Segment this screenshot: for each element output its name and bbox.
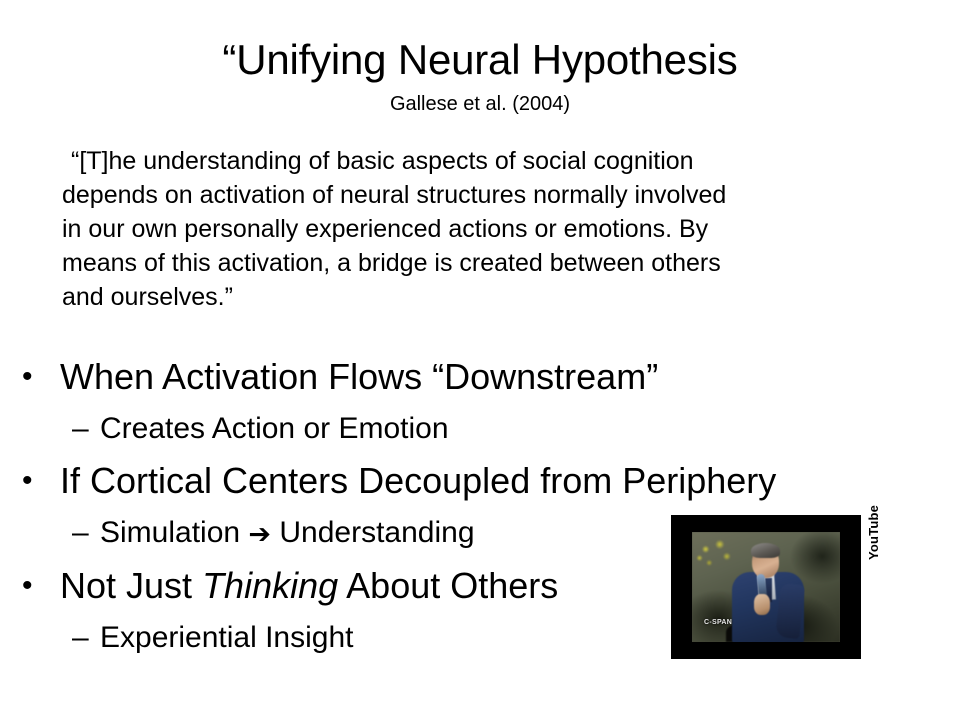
bullet-item-2: • If Cortical Centers Decoupled from Per… xyxy=(22,454,952,508)
sub-bullet-item-3-label: Experiential Insight xyxy=(100,613,353,663)
page-title: “Unifying Neural Hypothesis xyxy=(0,36,960,84)
en-dash-icon: – xyxy=(72,404,100,454)
quote-line-3: in our own personally experienced action… xyxy=(62,212,924,246)
video-thumbnail[interactable]: C-SPAN xyxy=(692,532,840,642)
en-dash-icon: – xyxy=(72,508,100,558)
sub-bullet-item-2-label: Simulation ➔ Understanding xyxy=(100,508,475,559)
embedded-video-player[interactable]: C-SPAN xyxy=(671,515,861,659)
foliage-decoration xyxy=(696,538,740,578)
right-arrow-icon: ➔ xyxy=(248,510,271,560)
sub-bullet-item-1: – Creates Action or Emotion xyxy=(72,404,952,454)
bullet-item-1-label: When Activation Flows “Downstream” xyxy=(60,350,658,404)
title-block: “Unifying Neural Hypothesis Gallese et a… xyxy=(0,36,960,116)
en-dash-icon: – xyxy=(72,613,100,663)
quote-line-2: depends on activation of neural structur… xyxy=(62,178,924,212)
bullet-item-3-text-part1: Not Just xyxy=(60,565,202,606)
bullet-dot-icon: • xyxy=(22,559,60,613)
bullet-item-2-label: If Cortical Centers Decoupled from Perip… xyxy=(60,454,776,508)
speaker-hair xyxy=(751,543,780,558)
bullet-item-3-emphasis: Thinking xyxy=(202,565,338,606)
bullet-item-1: • When Activation Flows “Downstream” xyxy=(22,350,952,404)
bullet-item-3-label: Not Just Thinking About Others xyxy=(60,559,558,613)
citation-subtitle: Gallese et al. (2004) xyxy=(0,92,960,116)
quotation-block: “[T]he understanding of basic aspects of… xyxy=(62,144,924,314)
bullet-item-3-text-part2: About Others xyxy=(338,565,558,606)
bullet-dot-icon: • xyxy=(22,454,60,508)
bullet-dot-icon: • xyxy=(22,350,60,404)
sub-bullet-item-2-text-before: Simulation xyxy=(100,516,248,549)
quote-line-1: “[T]he understanding of basic aspects of… xyxy=(71,144,924,178)
quote-line-4: means of this activation, a bridge is cr… xyxy=(62,246,924,280)
quote-line-5: and ourselves.” xyxy=(62,280,924,314)
sub-bullet-item-1-label: Creates Action or Emotion xyxy=(100,404,449,454)
sub-bullet-item-2-text-after: Understanding xyxy=(271,516,474,549)
youtube-provider-label: YouTube xyxy=(866,505,881,560)
presentation-slide: “Unifying Neural Hypothesis Gallese et a… xyxy=(0,0,960,720)
speaker-hand xyxy=(754,594,770,615)
broadcaster-watermark: C-SPAN xyxy=(704,619,732,626)
